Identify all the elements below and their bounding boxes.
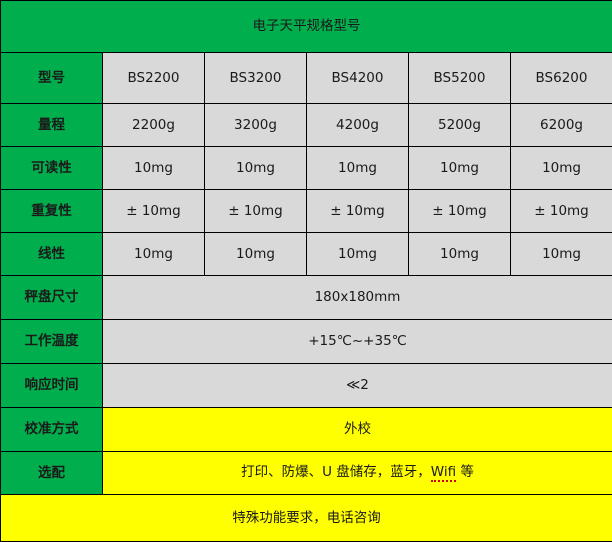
table-footer-row: 特殊功能要求，电话咨询	[1, 495, 612, 542]
row-label-response-time: 响应时间	[1, 364, 103, 408]
cell-operating-temperature-value: +15℃~+35℃	[103, 320, 612, 364]
cell-readability-5: 10mg	[511, 147, 612, 190]
cell-repeatability-3: ± 10mg	[307, 190, 409, 233]
cell-model-5: BS6200	[511, 53, 612, 104]
cell-linearity-1: 10mg	[103, 233, 205, 276]
row-label-repeatability: 重复性	[1, 190, 103, 233]
table-row-model: 型号 BS2200 BS3200 BS4200 BS5200 BS6200	[1, 53, 612, 104]
cell-repeatability-4: ± 10mg	[409, 190, 511, 233]
row-label-readability: 可读性	[1, 147, 103, 190]
options-text-after: 等	[456, 464, 474, 480]
row-label-options: 选配	[1, 452, 103, 495]
cell-readability-2: 10mg	[205, 147, 307, 190]
cell-capacity-5: 6200g	[511, 104, 612, 147]
cell-linearity-3: 10mg	[307, 233, 409, 276]
row-label-linearity: 线性	[1, 233, 103, 276]
footer-note: 特殊功能要求，电话咨询	[1, 495, 612, 542]
options-misspelled-word: Wifi	[431, 464, 456, 482]
row-label-pan-size: 秤盘尺寸	[1, 276, 103, 320]
row-label-calibration: 校准方式	[1, 408, 103, 452]
table-row-options: 选配 打印、防爆、U 盘储存，蓝牙，Wifi 等	[1, 452, 612, 495]
cell-repeatability-5: ± 10mg	[511, 190, 612, 233]
options-text-before: 打印、防爆、U 盘储存，蓝牙，	[241, 464, 431, 480]
cell-linearity-2: 10mg	[205, 233, 307, 276]
table-row-repeatability: 重复性 ± 10mg ± 10mg ± 10mg ± 10mg ± 10mg	[1, 190, 612, 233]
cell-readability-3: 10mg	[307, 147, 409, 190]
row-label-capacity: 量程	[1, 104, 103, 147]
table-row-readability: 可读性 10mg 10mg 10mg 10mg 10mg	[1, 147, 612, 190]
cell-pan-size-value: 180x180mm	[103, 276, 612, 320]
cell-repeatability-1: ± 10mg	[103, 190, 205, 233]
cell-capacity-3: 4200g	[307, 104, 409, 147]
cell-capacity-1: 2200g	[103, 104, 205, 147]
page-title: 电子天平规格型号	[1, 1, 612, 53]
cell-response-time-value: ≪2	[103, 364, 612, 408]
cell-readability-4: 10mg	[409, 147, 511, 190]
cell-readability-1: 10mg	[103, 147, 205, 190]
cell-model-2: BS3200	[205, 53, 307, 104]
table-row-operating-temperature: 工作温度 +15℃~+35℃	[1, 320, 612, 364]
cell-options-value: 打印、防爆、U 盘储存，蓝牙，Wifi 等	[103, 452, 612, 495]
specification-table: 电子天平规格型号 型号 BS2200 BS3200 BS4200 BS5200 …	[0, 0, 612, 542]
table-row-response-time: 响应时间 ≪2	[1, 364, 612, 408]
cell-model-1: BS2200	[103, 53, 205, 104]
cell-repeatability-2: ± 10mg	[205, 190, 307, 233]
cell-model-3: BS4200	[307, 53, 409, 104]
table-row-capacity: 量程 2200g 3200g 4200g 5200g 6200g	[1, 104, 612, 147]
cell-linearity-5: 10mg	[511, 233, 612, 276]
row-label-operating-temperature: 工作温度	[1, 320, 103, 364]
table-title-row: 电子天平规格型号	[1, 1, 612, 53]
cell-capacity-4: 5200g	[409, 104, 511, 147]
table-row-pan-size: 秤盘尺寸 180x180mm	[1, 276, 612, 320]
table-row-linearity: 线性 10mg 10mg 10mg 10mg 10mg	[1, 233, 612, 276]
cell-model-4: BS5200	[409, 53, 511, 104]
cell-linearity-4: 10mg	[409, 233, 511, 276]
cell-capacity-2: 3200g	[205, 104, 307, 147]
table-row-calibration: 校准方式 外校	[1, 408, 612, 452]
row-label-model: 型号	[1, 53, 103, 104]
cell-calibration-value: 外校	[103, 408, 612, 452]
